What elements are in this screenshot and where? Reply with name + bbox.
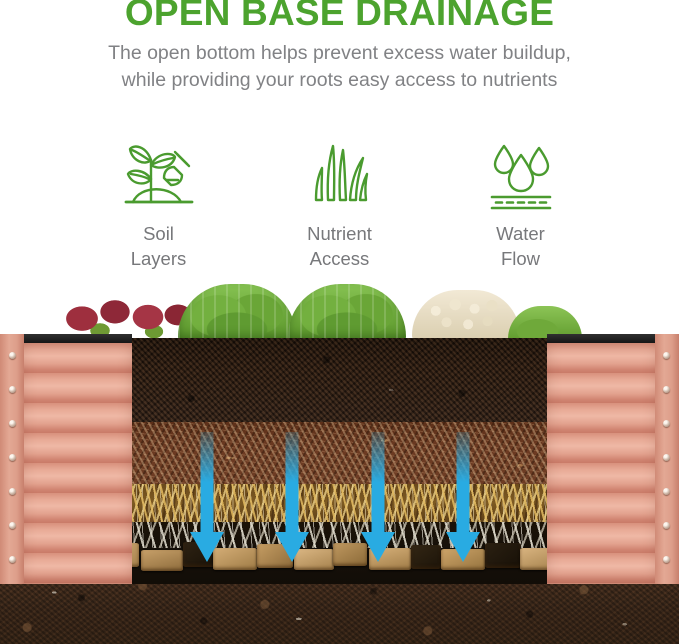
panel-screw	[9, 556, 16, 563]
panel-screw	[663, 488, 670, 495]
grass-blades-icon	[303, 135, 377, 215]
panel-screw	[9, 420, 16, 427]
water-flow-arrow	[281, 432, 303, 562]
native-ground-soil	[0, 578, 679, 644]
arrow-head	[190, 532, 224, 562]
feature-soil-layers-label: Soil Layers	[131, 221, 187, 271]
water-flow-arrow	[367, 432, 389, 562]
plant-trowel-icon	[120, 135, 198, 215]
product-cross-section-illustration	[0, 282, 679, 644]
feature-water-flow: Water Flow	[433, 135, 608, 271]
panel-screw	[9, 386, 16, 393]
wood-log	[141, 550, 183, 571]
panel-screw	[663, 352, 670, 359]
bed-panel-right	[547, 334, 679, 584]
panel-screw	[9, 454, 16, 461]
feature-label-line-1: Water	[496, 221, 545, 246]
panel-screw	[9, 488, 16, 495]
feature-nutrient-access: Nutrient Access	[252, 135, 427, 271]
bed-panel-left	[0, 334, 132, 584]
corrugated-metal-wall	[22, 343, 132, 584]
panel-screw	[9, 522, 16, 529]
feature-label-line-2: Layers	[131, 246, 187, 271]
feature-water-flow-label: Water Flow	[496, 221, 545, 271]
panel-screw	[663, 556, 670, 563]
panel-screw	[663, 454, 670, 461]
feature-label-line-1: Nutrient	[307, 221, 372, 246]
panel-screw	[663, 522, 670, 529]
arrow-head	[361, 532, 395, 562]
page-subtitle: The open bottom helps prevent excess wat…	[30, 40, 650, 94]
arrow-shaft	[201, 432, 214, 536]
water-droplets-icon	[482, 135, 560, 215]
wood-log	[411, 545, 441, 569]
subtitle-line-1: The open bottom helps prevent excess wat…	[30, 40, 650, 67]
infographic-page: OPEN BASE DRAINAGE The open bottom helps…	[0, 0, 679, 644]
wood-log	[485, 543, 521, 568]
subtitle-line-2: while providing your roots easy access t…	[30, 67, 650, 94]
feature-nutrient-access-label: Nutrient Access	[307, 221, 372, 271]
arrow-shaft	[457, 432, 470, 536]
feature-label-line-2: Flow	[496, 246, 545, 271]
water-flow-arrow	[196, 432, 218, 562]
cauliflower	[412, 290, 520, 342]
plant-row	[0, 282, 679, 342]
feature-row: Soil Layers	[0, 135, 679, 280]
panel-screw	[9, 352, 16, 359]
green-cabbage	[288, 284, 406, 342]
arrow-head	[446, 532, 480, 562]
corrugated-metal-wall	[547, 343, 657, 584]
water-flow-arrow	[452, 432, 474, 562]
feature-soil-layers: Soil Layers	[71, 135, 246, 271]
page-title: OPEN BASE DRAINAGE	[0, 0, 679, 35]
arrow-shaft	[372, 432, 385, 536]
panel-screw	[663, 420, 670, 427]
arrow-shaft	[286, 432, 299, 536]
feature-label-line-2: Access	[307, 246, 372, 271]
arrow-head	[275, 532, 309, 562]
feature-label-line-1: Soil	[131, 221, 187, 246]
panel-screw	[663, 386, 670, 393]
